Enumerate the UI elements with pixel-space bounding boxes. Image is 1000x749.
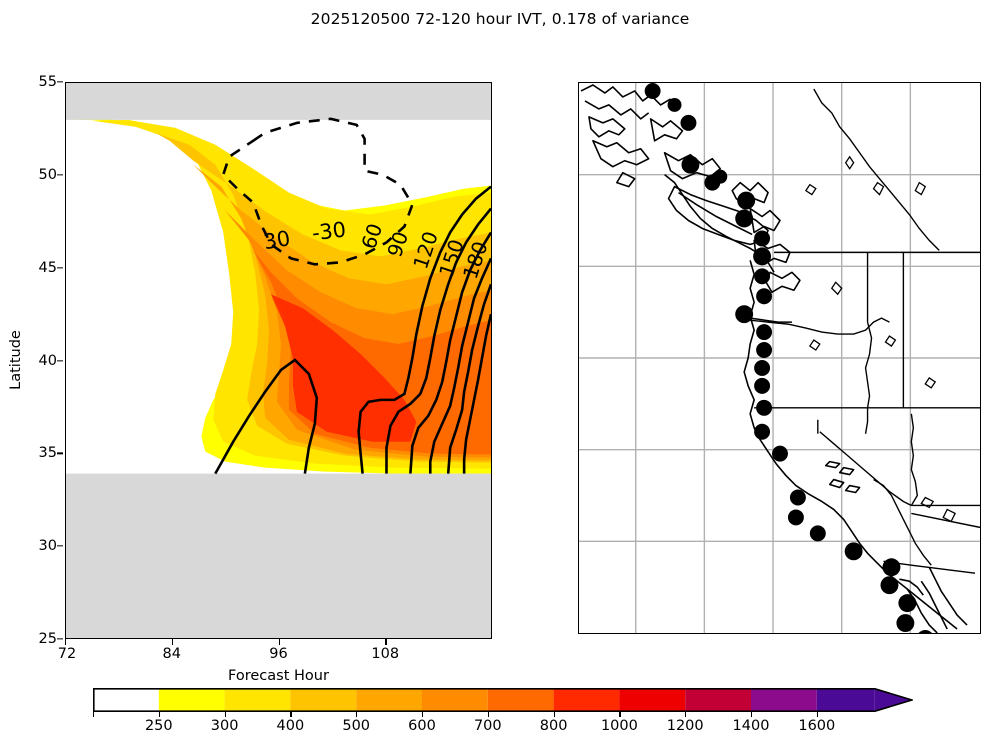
- x-axis-title: Forecast Hour: [65, 668, 492, 684]
- ytick-40: 40: [39, 353, 57, 369]
- ytick-50: 50: [39, 167, 57, 183]
- ytick-30: 30: [39, 538, 57, 554]
- contour-label-30: 30: [262, 226, 292, 254]
- xtick-84: 84: [163, 646, 181, 662]
- xtick-108: 108: [371, 646, 399, 662]
- west-coast-map[interactable]: [578, 82, 981, 634]
- masked-region-bottom: [66, 474, 491, 638]
- svg-text:-30: -30: [311, 217, 348, 245]
- ytick-25: 25: [39, 631, 57, 647]
- xtick-72: 72: [58, 646, 76, 662]
- cbtick-700: 700: [474, 718, 502, 734]
- xtick-96: 96: [269, 646, 287, 662]
- map-svg: [579, 83, 980, 633]
- x-axis-ticks: 72 84 96 108: [65, 639, 492, 669]
- cbtick-1400: 1400: [733, 718, 770, 734]
- y-axis-title: Latitude: [8, 330, 24, 390]
- contour-label-minus30: -30: [311, 217, 363, 245]
- cbtick-1000: 1000: [601, 718, 638, 734]
- cbtick-600: 600: [408, 718, 436, 734]
- ytick-45: 45: [39, 260, 57, 276]
- colorbar[interactable]: [93, 688, 913, 712]
- cbtick-250: 250: [145, 718, 173, 734]
- masked-region-top: [66, 83, 491, 120]
- colorbar-svg: [93, 688, 913, 712]
- figure-canvas: 2025120500 72-120 hour IVT, 0.178 of var…: [0, 0, 1000, 749]
- hovmoller-plot[interactable]: -30 30 60 90 120 150 180: [65, 82, 492, 639]
- colorbar-ticks: 250 300 400 500 600 700 800 1000 1200 14…: [93, 712, 913, 742]
- cbtick-1600: 1600: [798, 718, 835, 734]
- ytick-35: 35: [39, 445, 57, 461]
- ytick-55: 55: [39, 74, 57, 90]
- cbtick-800: 800: [540, 718, 568, 734]
- cbtick-400: 400: [277, 718, 305, 734]
- page-title: 2025120500 72-120 hour IVT, 0.178 of var…: [0, 10, 1000, 28]
- cbtick-300: 300: [211, 718, 239, 734]
- cbtick-500: 500: [342, 718, 370, 734]
- cbtick-1200: 1200: [667, 718, 704, 734]
- colorbar-segments: [93, 688, 913, 712]
- hovmoller-contour-svg: -30 30 60 90 120 150 180: [66, 83, 491, 638]
- svg-text:30: 30: [262, 226, 292, 254]
